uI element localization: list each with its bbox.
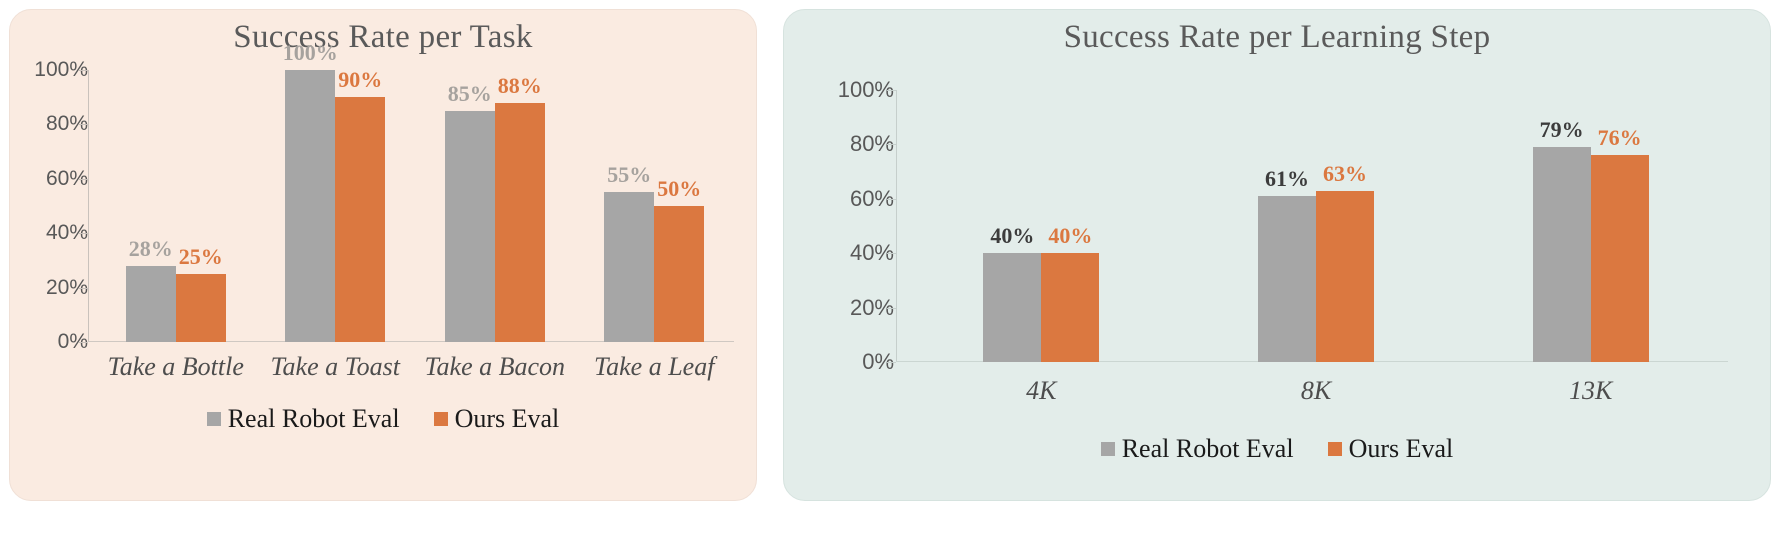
y-tick-mark bbox=[79, 288, 88, 289]
chart-panel-task: Success Rate per Task 0%20%40%60%80%100%… bbox=[9, 9, 757, 501]
y-tick-mark bbox=[887, 144, 896, 145]
bar[interactable]: 25% bbox=[176, 274, 226, 342]
x-axis-labels-task: Take a BottleTake a ToastTake a BaconTak… bbox=[96, 342, 734, 382]
legend-item[interactable]: Real Robot Eval bbox=[1101, 434, 1294, 464]
bar-value-label: 85% bbox=[448, 81, 492, 107]
legend-label: Ours Eval bbox=[455, 404, 560, 434]
plot-wrap-task: 0%20%40%60%80%100% 28%25%100%90%85%88%55… bbox=[10, 70, 756, 342]
bar[interactable]: 50% bbox=[654, 206, 704, 342]
legend-item[interactable]: Real Robot Eval bbox=[207, 404, 400, 434]
y-tick-mark bbox=[79, 342, 88, 343]
y-tick-mark bbox=[887, 253, 896, 254]
legend-learning-step: Real Robot EvalOurs Eval bbox=[784, 434, 1770, 464]
y-tick-mark bbox=[887, 362, 896, 363]
bar[interactable]: 63% bbox=[1316, 191, 1374, 362]
x-category-label: 13K bbox=[1453, 376, 1728, 406]
x-category-label: Take a Bacon bbox=[415, 352, 575, 382]
y-tick-mark bbox=[887, 199, 896, 200]
x-category-label: Take a Toast bbox=[256, 352, 416, 382]
bar-value-label: 88% bbox=[498, 73, 542, 99]
bar[interactable]: 85% bbox=[445, 111, 495, 342]
y-axis-line-learning-step bbox=[896, 90, 897, 362]
legend-task: Real Robot EvalOurs Eval bbox=[10, 404, 756, 434]
bar-group: 28%25% bbox=[96, 70, 256, 342]
bar-value-label: 50% bbox=[657, 176, 701, 202]
figure-root: Success Rate per Task 0%20%40%60%80%100%… bbox=[0, 0, 1774, 550]
plot-wrap-learning-step: 0%20%40%60%80%100% 40%40%61%63%79%76% bbox=[784, 90, 1770, 362]
legend-swatch-icon bbox=[207, 412, 221, 426]
x-category-label: Take a Bottle bbox=[96, 352, 256, 382]
y-tick-mark bbox=[887, 308, 896, 309]
bar-value-label: 76% bbox=[1598, 125, 1642, 151]
y-tick-mark bbox=[79, 179, 88, 180]
legend-item[interactable]: Ours Eval bbox=[1328, 434, 1454, 464]
bar-group: 85%88% bbox=[415, 70, 575, 342]
legend-swatch-icon bbox=[1328, 442, 1342, 456]
chart-title-learning-step: Success Rate per Learning Step bbox=[784, 10, 1770, 56]
y-tick-mark bbox=[79, 233, 88, 234]
y-axis-line-task bbox=[88, 70, 89, 342]
bar-value-label: 25% bbox=[179, 244, 223, 270]
y-tick-mark bbox=[79, 70, 88, 71]
bar-group: 40%40% bbox=[904, 90, 1179, 362]
x-category-label: Take a Leaf bbox=[575, 352, 735, 382]
bar[interactable]: 90% bbox=[335, 97, 385, 342]
y-axis-labels-learning-step: 0%20%40%60%80%100% bbox=[808, 90, 894, 362]
bar-groups-task: 28%25%100%90%85%88%55%50% bbox=[96, 70, 734, 342]
bar-value-label: 28% bbox=[129, 236, 173, 262]
bar[interactable]: 61% bbox=[1258, 196, 1316, 362]
bar-value-label: 40% bbox=[990, 223, 1034, 249]
bar[interactable]: 79% bbox=[1533, 147, 1591, 362]
chart-panel-learning-step: Success Rate per Learning Step 0%20%40%6… bbox=[783, 9, 1771, 501]
bar-value-label: 90% bbox=[338, 67, 382, 93]
bar-group: 100%90% bbox=[256, 70, 416, 342]
bar-value-label: 55% bbox=[607, 162, 651, 188]
y-tick-mark bbox=[79, 124, 88, 125]
bar-groups-learning-step: 40%40%61%63%79%76% bbox=[904, 90, 1728, 362]
plot-area-task: 0%20%40%60%80%100% 28%25%100%90%85%88%55… bbox=[96, 70, 734, 342]
bar[interactable]: 88% bbox=[495, 103, 545, 342]
y-axis-labels-task: 0%20%40%60%80%100% bbox=[18, 70, 88, 342]
legend-swatch-icon bbox=[434, 412, 448, 426]
legend-swatch-icon bbox=[1101, 442, 1115, 456]
legend-label: Ours Eval bbox=[1349, 434, 1454, 464]
bar[interactable]: 40% bbox=[1041, 253, 1099, 362]
bar-value-label: 100% bbox=[283, 40, 338, 66]
legend-item[interactable]: Ours Eval bbox=[434, 404, 560, 434]
x-category-label: 8K bbox=[1179, 376, 1454, 406]
bar[interactable]: 76% bbox=[1591, 155, 1649, 362]
bar-value-label: 63% bbox=[1323, 161, 1367, 187]
plot-area-learning-step: 0%20%40%60%80%100% 40%40%61%63%79%76% bbox=[904, 90, 1728, 362]
y-tick-mark bbox=[887, 90, 896, 91]
bar[interactable]: 28% bbox=[126, 266, 176, 342]
bar-value-label: 40% bbox=[1048, 223, 1092, 249]
bar-value-label: 61% bbox=[1265, 166, 1309, 192]
x-axis-labels-learning-step: 4K8K13K bbox=[904, 362, 1728, 406]
bar[interactable]: 100% bbox=[285, 70, 335, 342]
bar-group: 61%63% bbox=[1179, 90, 1454, 362]
bar-group: 55%50% bbox=[575, 70, 735, 342]
legend-label: Real Robot Eval bbox=[1122, 434, 1294, 464]
bar-value-label: 79% bbox=[1540, 117, 1584, 143]
y-tick-label: 100% bbox=[838, 77, 894, 103]
bar[interactable]: 55% bbox=[604, 192, 654, 342]
x-category-label: 4K bbox=[904, 376, 1179, 406]
bar-group: 79%76% bbox=[1453, 90, 1728, 362]
bar[interactable]: 40% bbox=[983, 253, 1041, 362]
legend-label: Real Robot Eval bbox=[228, 404, 400, 434]
chart-title-task: Success Rate per Task bbox=[10, 10, 756, 56]
